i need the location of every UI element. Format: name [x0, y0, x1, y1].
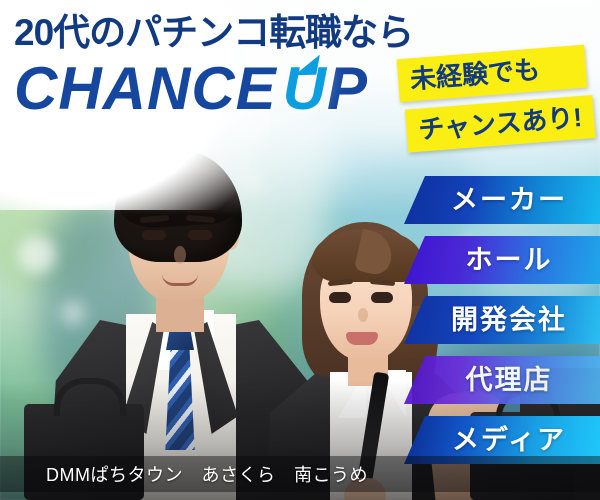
category-button-agency[interactable]: 代理店 — [404, 356, 600, 404]
eye-right — [188, 230, 212, 240]
credit-text: DMMぱちタウン あさくら 南こうめ — [0, 461, 368, 487]
headline-kicker: 20代のパチンコ転職なら — [14, 14, 434, 51]
nose — [174, 246, 186, 264]
up-arrow-icon — [294, 55, 320, 76]
nose — [358, 308, 368, 322]
category-button-hall[interactable]: ホール — [404, 236, 600, 284]
mouth — [346, 332, 378, 345]
credit-bar: DMMぱちタウン あさくら 南こうめ — [0, 456, 600, 492]
logo-chance-up: CHANCEUP — [14, 59, 434, 119]
category-button-development-company[interactable]: 開発会社 — [404, 296, 600, 344]
eye-left — [142, 230, 166, 240]
logo-word-chance: CHANCE — [14, 55, 277, 122]
background-light-bokeh — [18, 236, 56, 274]
badge-line-1: 未経験でも — [397, 45, 588, 103]
headline-block: 20代のパチンコ転職なら CHANCEUP — [14, 14, 434, 119]
promo-banner: 20代のパチンコ転職なら CHANCEUP 未経験でも チャンスあり! メーカー… — [0, 0, 600, 500]
highlight-badge: 未経験でも チャンスあり! — [398, 52, 586, 142]
eye-right — [371, 292, 393, 303]
logo-letter-p: P — [327, 55, 368, 122]
category-list: メーカー ホール 開発会社 代理店 メディア — [404, 176, 600, 464]
eye-left — [329, 292, 351, 303]
category-label: 開発会社 — [437, 307, 567, 334]
category-button-maker[interactable]: メーカー — [404, 176, 600, 224]
category-label: 代理店 — [452, 367, 553, 394]
logo-word-up: U — [283, 59, 327, 119]
category-label: メーカー — [437, 187, 567, 214]
category-label: メディア — [438, 427, 566, 454]
category-label: ホール — [452, 247, 553, 274]
